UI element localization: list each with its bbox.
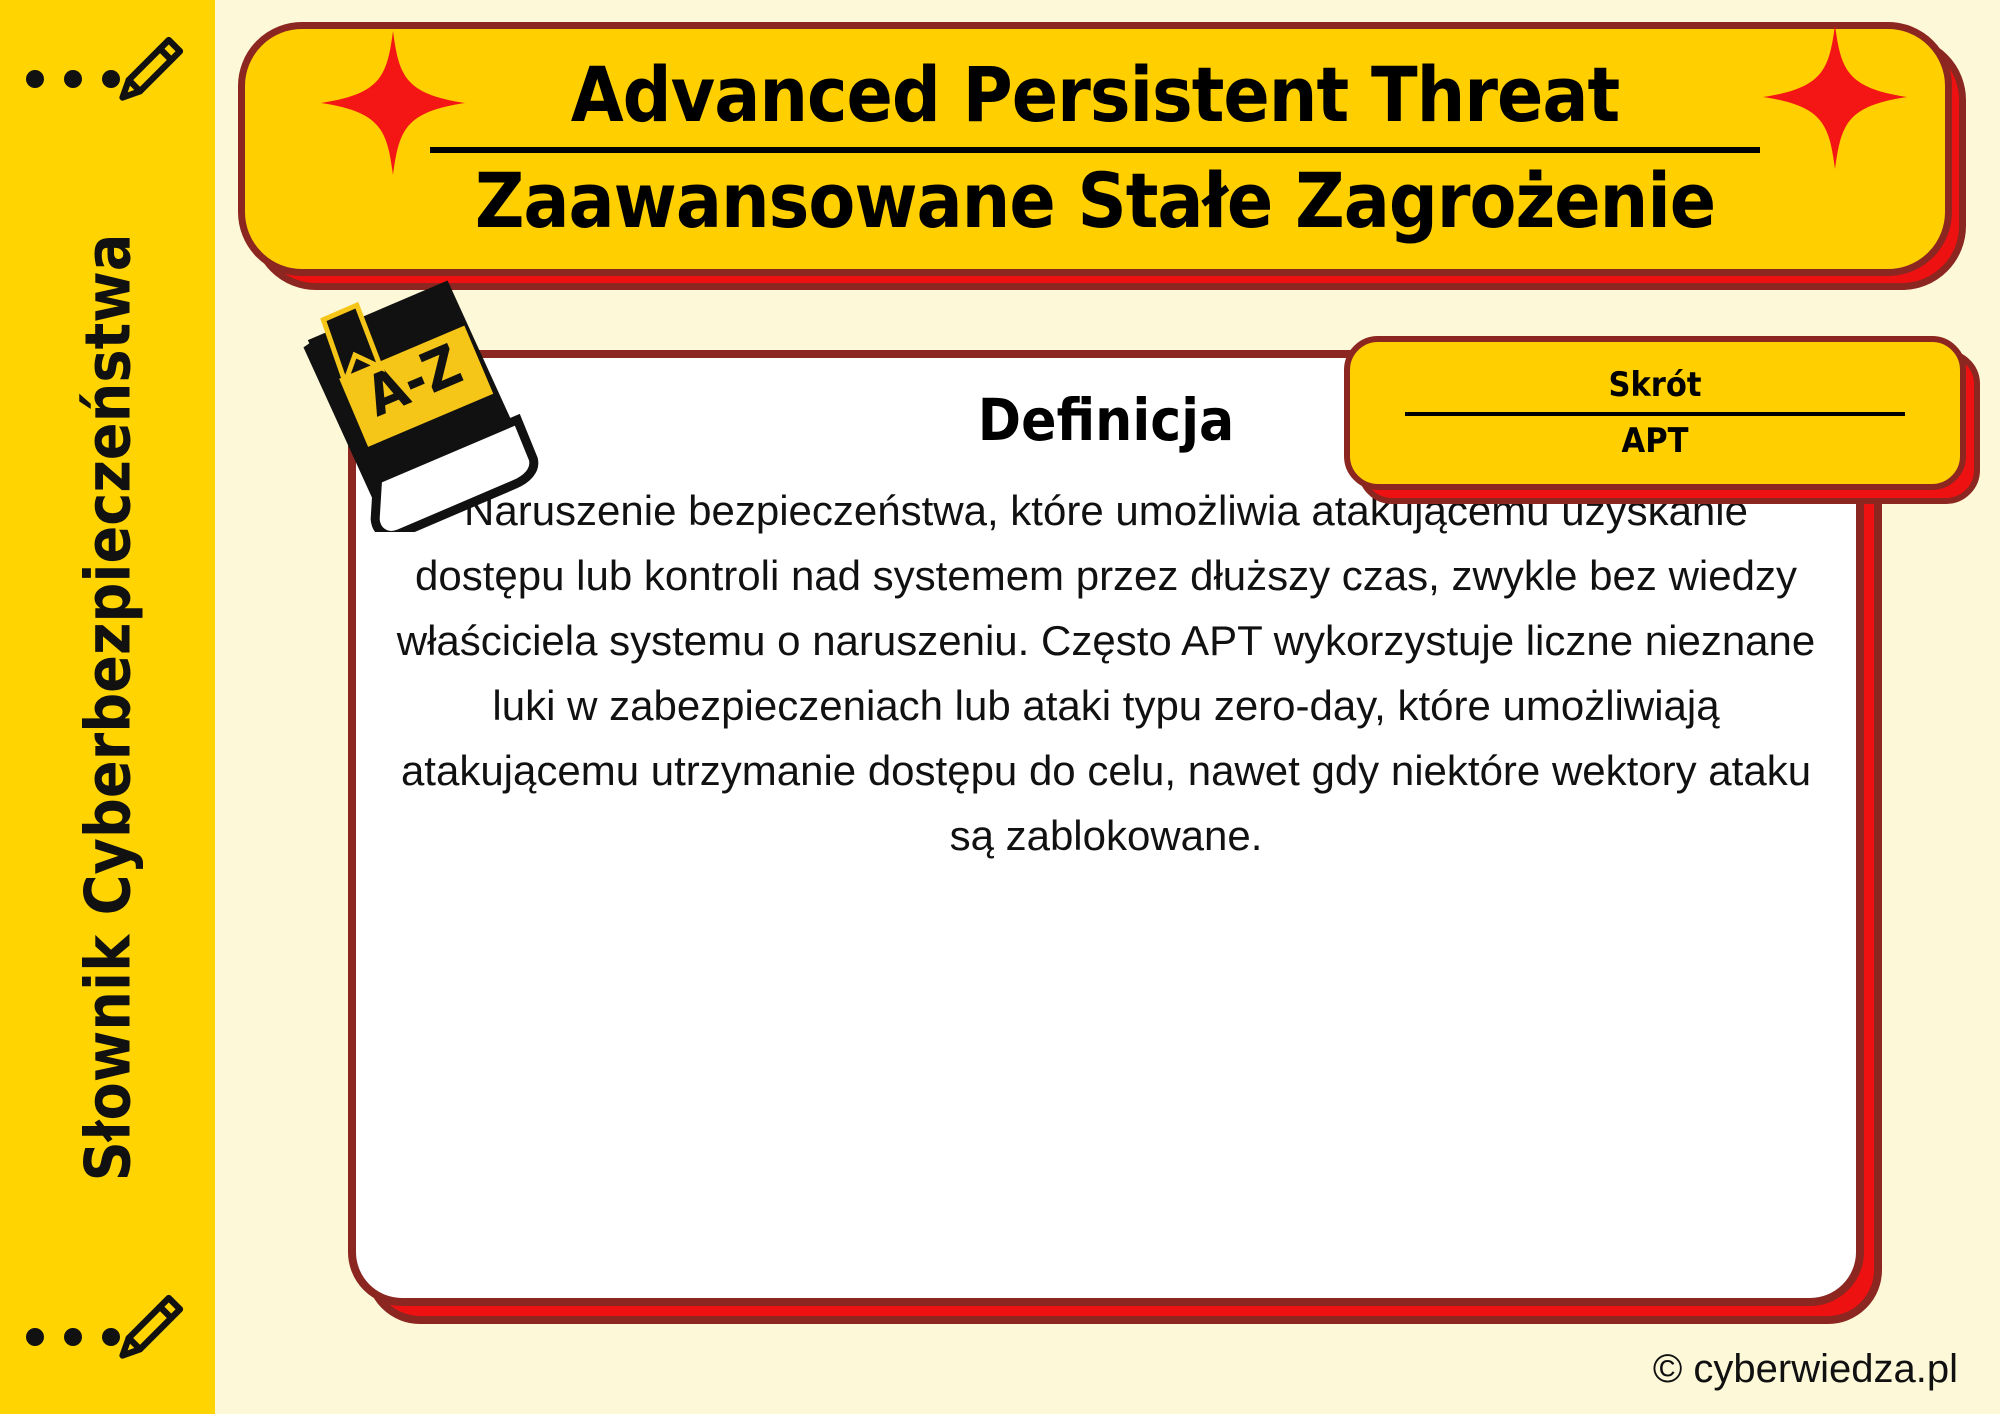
page-canvas: Słownik Cyberbezpieczeństwa Advanced Per… [0, 0, 2000, 1414]
sidebar-title: Słownik Cyberbezpieczeństwa [0, 0, 215, 1414]
sidebar-dots-bottom [26, 1328, 120, 1346]
sparkle-icon [1760, 22, 1910, 172]
title-divider [430, 147, 1760, 153]
abbreviation-divider [1405, 412, 1905, 416]
sparkle-icon [318, 28, 468, 178]
title-polish: Zaawansowane Stałe Zagrożenie [475, 163, 1715, 239]
copyright-text: © cyberwiedza.pl [1653, 1347, 1958, 1392]
dot-icon [26, 1328, 44, 1346]
sidebar-title-text: Słownik Cyberbezpieczeństwa [71, 233, 144, 1181]
sidebar-bottom-decoration [0, 1276, 215, 1396]
abbreviation-label: Skrót [1608, 368, 1701, 402]
title-banner: Advanced Persistent Threat Zaawansowane … [238, 22, 1952, 276]
title-english: Advanced Persistent Threat [571, 57, 1619, 133]
dot-icon [64, 1328, 82, 1346]
sidebar: Słownik Cyberbezpieczeństwa [0, 0, 215, 1414]
book-az-icon: A-Z [290, 272, 540, 532]
definition-text: Naruszenie bezpieczeństwa, które umożliw… [386, 478, 1826, 869]
abbreviation-value: APT [1622, 424, 1689, 458]
pencil-icon [110, 1288, 190, 1368]
abbreviation-chip: Skrót APT [1344, 336, 1966, 490]
